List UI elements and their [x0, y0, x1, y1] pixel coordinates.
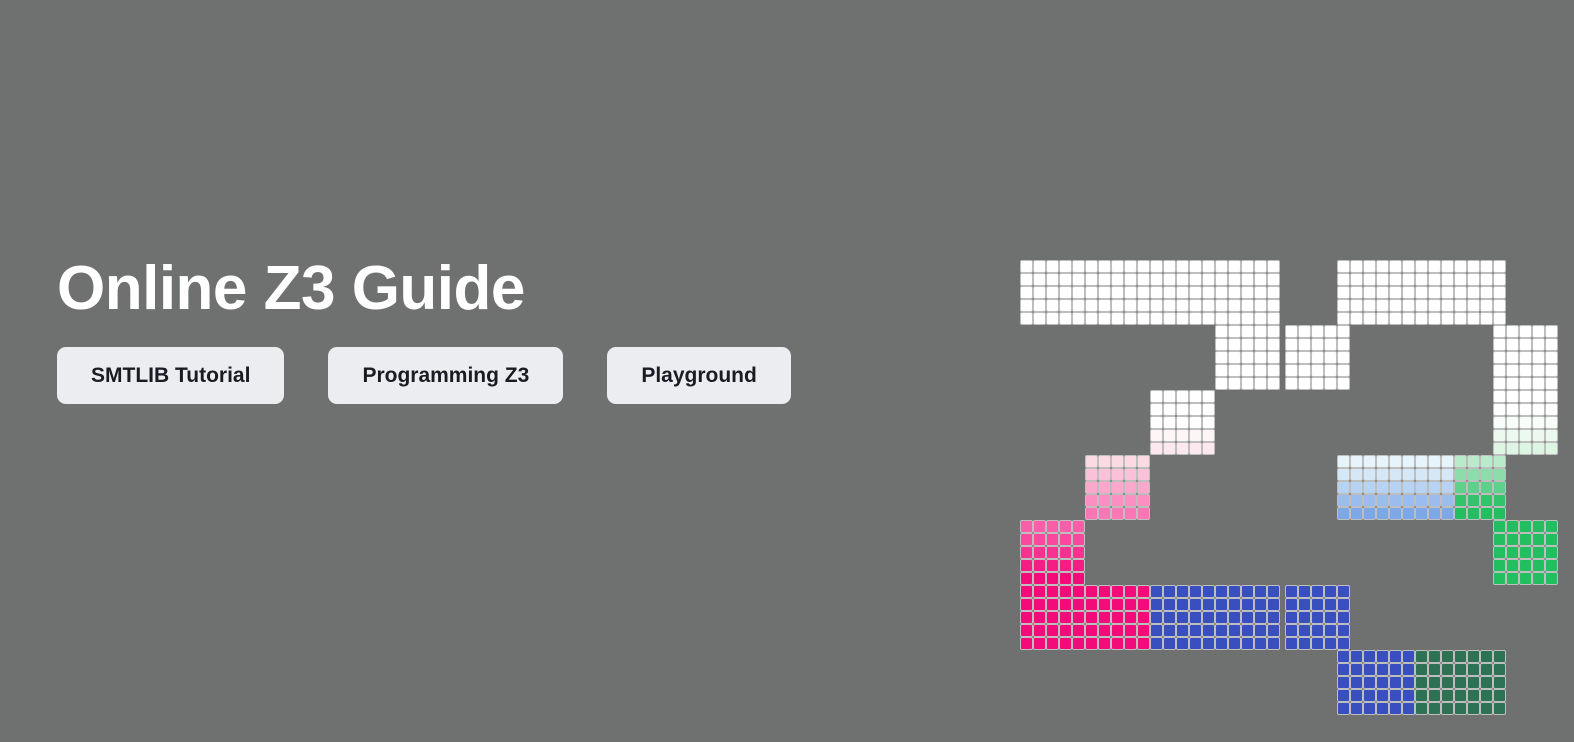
logo-pixel	[1086, 599, 1097, 610]
logo-pixel	[1481, 287, 1492, 298]
logo-pixel	[1533, 430, 1544, 441]
logo-pixel	[1203, 443, 1214, 454]
logo-pixel	[1177, 638, 1188, 649]
logo-pixel	[1546, 443, 1557, 454]
logo-pixel	[1190, 300, 1201, 311]
logo-pixel	[1494, 378, 1505, 389]
logo-pixel	[1507, 573, 1518, 584]
logo-pixel	[1520, 352, 1531, 363]
logo-pixel	[1468, 677, 1479, 688]
logo-pixel	[1312, 625, 1323, 636]
logo-pixel	[1494, 521, 1505, 532]
logo-pixel	[1312, 339, 1323, 350]
logo-pixel	[1494, 261, 1505, 272]
logo-pixel	[1242, 274, 1253, 285]
logo-pixel	[1229, 326, 1240, 337]
logo-pixel	[1416, 313, 1427, 324]
logo-pixel	[1299, 365, 1310, 376]
logo-pixel	[1086, 287, 1097, 298]
logo-pixel	[1403, 690, 1414, 701]
logo-pixel	[1268, 586, 1279, 597]
logo-pixel	[1468, 508, 1479, 519]
logo-pixel	[1255, 313, 1266, 324]
logo-pixel	[1533, 404, 1544, 415]
logo-pixel	[1112, 612, 1123, 623]
logo-pixel	[1455, 651, 1466, 662]
logo-pixel	[1099, 612, 1110, 623]
logo-pixel	[1268, 352, 1279, 363]
logo-pixel	[1377, 469, 1388, 480]
logo-pixel	[1138, 612, 1149, 623]
logo-pixel	[1403, 677, 1414, 688]
logo-pixel	[1203, 274, 1214, 285]
logo-pixel	[1468, 313, 1479, 324]
logo-pixel	[1312, 352, 1323, 363]
logo-pixel	[1060, 560, 1071, 571]
logo-pixel	[1468, 456, 1479, 467]
logo-pixel	[1073, 625, 1084, 636]
logo-pixel	[1060, 261, 1071, 272]
logo-pixel	[1099, 469, 1110, 480]
logo-pixel	[1138, 482, 1149, 493]
logo-pixel	[1138, 261, 1149, 272]
logo-pixel	[1364, 508, 1375, 519]
logo-pixel	[1416, 274, 1427, 285]
logo-pixel	[1338, 508, 1349, 519]
logo-pixel	[1229, 313, 1240, 324]
logo-pixel	[1099, 287, 1110, 298]
logo-pixel	[1546, 326, 1557, 337]
logo-pixel	[1299, 339, 1310, 350]
logo-pixel	[1177, 625, 1188, 636]
logo-pixel	[1216, 586, 1227, 597]
logo-pixel	[1455, 287, 1466, 298]
logo-pixel	[1533, 352, 1544, 363]
logo-pixel	[1164, 599, 1175, 610]
logo-pixel	[1455, 690, 1466, 701]
logo-pixel	[1151, 404, 1162, 415]
logo-pixel	[1494, 469, 1505, 480]
logo-pixel	[1429, 651, 1440, 662]
logo-pixel	[1468, 261, 1479, 272]
logo-pixel	[1520, 326, 1531, 337]
logo-pixel	[1338, 482, 1349, 493]
hero-banner: Online Z3 Guide SMTLIB Tutorial Programm…	[0, 0, 1574, 742]
logo-pixel	[1229, 378, 1240, 389]
logo-pixel	[1494, 339, 1505, 350]
logo-pixel	[1312, 638, 1323, 649]
logo-pixel	[1164, 313, 1175, 324]
logo-pixel	[1364, 313, 1375, 324]
logo-pixel	[1151, 612, 1162, 623]
logo-pixel	[1151, 599, 1162, 610]
logo-pixel	[1455, 300, 1466, 311]
logo-pixel	[1099, 261, 1110, 272]
logo-pixel	[1216, 261, 1227, 272]
logo-pixel	[1177, 391, 1188, 402]
logo-pixel	[1520, 560, 1531, 571]
logo-pixel	[1086, 274, 1097, 285]
logo-pixel	[1338, 300, 1349, 311]
logo-pixel	[1099, 586, 1110, 597]
logo-pixel	[1073, 560, 1084, 571]
logo-pixel	[1325, 339, 1336, 350]
logo-pixel	[1390, 651, 1401, 662]
logo-pixel	[1533, 534, 1544, 545]
logo-pixel	[1073, 274, 1084, 285]
logo-pixel	[1047, 599, 1058, 610]
logo-pixel	[1429, 677, 1440, 688]
logo-pixel	[1268, 326, 1279, 337]
logo-pixel	[1377, 495, 1388, 506]
logo-pixel	[1125, 261, 1136, 272]
logo-pixel	[1060, 625, 1071, 636]
logo-pixel	[1390, 469, 1401, 480]
logo-pixel	[1507, 378, 1518, 389]
logo-pixel	[1494, 391, 1505, 402]
logo-pixel	[1138, 599, 1149, 610]
logo-pixel	[1533, 339, 1544, 350]
programming-z3-button[interactable]: Programming Z3	[328, 347, 563, 404]
logo-pixel	[1442, 261, 1453, 272]
logo-pixel	[1377, 690, 1388, 701]
logo-pixel	[1203, 300, 1214, 311]
logo-pixel	[1507, 404, 1518, 415]
logo-pixel	[1164, 261, 1175, 272]
logo-pixel	[1073, 599, 1084, 610]
logo-pixel	[1533, 521, 1544, 532]
logo-pixel	[1164, 430, 1175, 441]
logo-pixel	[1338, 287, 1349, 298]
logo-pixel	[1377, 508, 1388, 519]
logo-pixel	[1351, 469, 1362, 480]
logo-pixel	[1533, 417, 1544, 428]
logo-pixel	[1364, 664, 1375, 675]
logo-pixel	[1177, 274, 1188, 285]
logo-pixel	[1034, 560, 1045, 571]
logo-pixel	[1021, 274, 1032, 285]
logo-pixel	[1138, 300, 1149, 311]
logo-pixel	[1390, 456, 1401, 467]
logo-pixel	[1507, 365, 1518, 376]
logo-pixel	[1390, 287, 1401, 298]
logo-pixel	[1377, 287, 1388, 298]
logo-pixel	[1494, 456, 1505, 467]
logo-pixel	[1351, 495, 1362, 506]
logo-pixel	[1099, 599, 1110, 610]
logo-pixel	[1125, 469, 1136, 480]
logo-pixel	[1203, 625, 1214, 636]
logo-pixel	[1507, 339, 1518, 350]
logo-pixel	[1060, 300, 1071, 311]
z3-pixel-logo	[1021, 261, 1521, 586]
logo-pixel	[1481, 664, 1492, 675]
logo-pixel	[1151, 274, 1162, 285]
logo-pixel	[1151, 443, 1162, 454]
logo-pixel	[1299, 638, 1310, 649]
logo-pixel	[1047, 521, 1058, 532]
logo-pixel	[1429, 482, 1440, 493]
logo-pixel	[1507, 443, 1518, 454]
logo-pixel	[1125, 495, 1136, 506]
logo-pixel	[1034, 612, 1045, 623]
logo-pixel	[1377, 313, 1388, 324]
logo-pixel	[1047, 274, 1058, 285]
logo-pixel	[1351, 482, 1362, 493]
logo-pixel	[1455, 482, 1466, 493]
logo-pixel	[1177, 417, 1188, 428]
logo-pixel	[1390, 313, 1401, 324]
logo-pixel	[1177, 300, 1188, 311]
logo-pixel	[1286, 352, 1297, 363]
logo-pixel	[1351, 664, 1362, 675]
logo-pixel	[1151, 313, 1162, 324]
logo-pixel	[1177, 612, 1188, 623]
logo-pixel	[1021, 638, 1032, 649]
logo-pixel	[1429, 313, 1440, 324]
logo-pixel	[1125, 638, 1136, 649]
logo-pixel	[1377, 456, 1388, 467]
logo-pixel	[1494, 534, 1505, 545]
logo-pixel	[1455, 508, 1466, 519]
logo-pixel	[1390, 495, 1401, 506]
logo-pixel	[1073, 300, 1084, 311]
logo-pixel	[1138, 313, 1149, 324]
logo-pixel	[1151, 586, 1162, 597]
logo-pixel	[1216, 313, 1227, 324]
logo-pixel	[1468, 495, 1479, 506]
logo-pixel	[1286, 365, 1297, 376]
smtlib-tutorial-button[interactable]: SMTLIB Tutorial	[57, 347, 284, 404]
logo-pixel	[1255, 352, 1266, 363]
logo-pixel	[1455, 703, 1466, 714]
logo-pixel	[1494, 482, 1505, 493]
logo-pixel	[1073, 521, 1084, 532]
logo-pixel	[1338, 326, 1349, 337]
logo-pixel	[1047, 287, 1058, 298]
logo-pixel	[1403, 703, 1414, 714]
logo-pixel	[1377, 261, 1388, 272]
logo-pixel	[1364, 495, 1375, 506]
logo-pixel	[1442, 313, 1453, 324]
logo-pixel	[1177, 404, 1188, 415]
logo-pixel	[1021, 625, 1032, 636]
logo-pixel	[1021, 534, 1032, 545]
logo-pixel	[1164, 612, 1175, 623]
logo-pixel	[1325, 378, 1336, 389]
logo-pixel	[1060, 521, 1071, 532]
logo-pixel	[1494, 508, 1505, 519]
logo-pixel	[1468, 664, 1479, 675]
logo-pixel	[1494, 274, 1505, 285]
logo-pixel	[1190, 612, 1201, 623]
logo-pixel	[1481, 300, 1492, 311]
logo-pixel	[1520, 534, 1531, 545]
logo-pixel	[1520, 417, 1531, 428]
logo-pixel	[1073, 261, 1084, 272]
logo-pixel	[1546, 365, 1557, 376]
logo-pixel	[1468, 690, 1479, 701]
logo-pixel	[1086, 586, 1097, 597]
logo-pixel	[1299, 378, 1310, 389]
logo-pixel	[1112, 599, 1123, 610]
logo-pixel	[1255, 287, 1266, 298]
playground-button[interactable]: Playground	[607, 347, 791, 404]
logo-pixel	[1442, 274, 1453, 285]
logo-pixel	[1268, 625, 1279, 636]
page-title: Online Z3 Guide	[57, 258, 957, 320]
logo-pixel	[1203, 287, 1214, 298]
logo-pixel	[1364, 300, 1375, 311]
logo-pixel	[1494, 300, 1505, 311]
logo-pixel	[1481, 482, 1492, 493]
logo-pixel	[1216, 300, 1227, 311]
logo-pixel	[1242, 612, 1253, 623]
logo-pixel	[1047, 560, 1058, 571]
logo-pixel	[1164, 391, 1175, 402]
logo-pixel	[1047, 261, 1058, 272]
logo-pixel	[1125, 482, 1136, 493]
logo-pixel	[1190, 430, 1201, 441]
logo-pixel	[1455, 274, 1466, 285]
logo-pixel	[1468, 287, 1479, 298]
logo-pixel	[1099, 495, 1110, 506]
logo-pixel	[1242, 313, 1253, 324]
logo-pixel	[1086, 482, 1097, 493]
logo-pixel	[1390, 482, 1401, 493]
logo-pixel	[1112, 586, 1123, 597]
logo-pixel	[1060, 287, 1071, 298]
logo-pixel	[1073, 534, 1084, 545]
logo-pixel	[1151, 300, 1162, 311]
logo-pixel	[1429, 495, 1440, 506]
logo-pixel	[1203, 417, 1214, 428]
logo-pixel	[1268, 599, 1279, 610]
logo-pixel	[1403, 469, 1414, 480]
logo-pixel	[1216, 638, 1227, 649]
logo-pixel	[1021, 599, 1032, 610]
logo-pixel	[1099, 508, 1110, 519]
logo-pixel	[1242, 625, 1253, 636]
logo-pixel	[1351, 456, 1362, 467]
logo-pixel	[1203, 612, 1214, 623]
logo-pixel	[1416, 508, 1427, 519]
logo-pixel	[1351, 313, 1362, 324]
logo-pixel	[1338, 586, 1349, 597]
logo-pixel	[1546, 521, 1557, 532]
logo-pixel	[1299, 599, 1310, 610]
logo-pixel	[1151, 417, 1162, 428]
logo-pixel	[1390, 703, 1401, 714]
logo-pixel	[1177, 586, 1188, 597]
logo-pixel	[1546, 430, 1557, 441]
logo-pixel	[1520, 404, 1531, 415]
logo-pixel	[1338, 651, 1349, 662]
logo-pixel	[1351, 703, 1362, 714]
logo-pixel	[1338, 599, 1349, 610]
logo-pixel	[1286, 638, 1297, 649]
logo-pixel	[1268, 261, 1279, 272]
logo-pixel	[1164, 300, 1175, 311]
logo-pixel	[1468, 274, 1479, 285]
logo-pixel	[1494, 443, 1505, 454]
logo-pixel	[1364, 261, 1375, 272]
logo-pixel	[1520, 430, 1531, 441]
logo-pixel	[1086, 612, 1097, 623]
logo-pixel	[1125, 586, 1136, 597]
logo-pixel	[1203, 638, 1214, 649]
logo-pixel	[1073, 612, 1084, 623]
logo-pixel	[1060, 638, 1071, 649]
logo-pixel	[1494, 573, 1505, 584]
logo-pixel	[1481, 469, 1492, 480]
logo-pixel	[1507, 417, 1518, 428]
logo-pixel	[1151, 430, 1162, 441]
logo-pixel	[1164, 274, 1175, 285]
logo-pixel	[1216, 599, 1227, 610]
logo-pixel	[1416, 495, 1427, 506]
logo-pixel	[1520, 547, 1531, 558]
logo-pixel	[1229, 625, 1240, 636]
logo-pixel	[1507, 326, 1518, 337]
logo-pixel	[1364, 677, 1375, 688]
logo-pixel	[1468, 469, 1479, 480]
logo-pixel	[1034, 521, 1045, 532]
logo-pixel	[1325, 586, 1336, 597]
logo-pixel	[1034, 586, 1045, 597]
logo-pixel	[1060, 547, 1071, 558]
logo-pixel	[1255, 586, 1266, 597]
logo-pixel	[1338, 495, 1349, 506]
logo-pixel	[1299, 326, 1310, 337]
logo-pixel	[1086, 508, 1097, 519]
logo-pixel	[1429, 703, 1440, 714]
logo-pixel	[1325, 326, 1336, 337]
logo-pixel	[1546, 547, 1557, 558]
logo-pixel	[1546, 573, 1557, 584]
logo-pixel	[1442, 664, 1453, 675]
logo-pixel	[1073, 573, 1084, 584]
logo-pixel	[1164, 443, 1175, 454]
logo-pixel	[1338, 703, 1349, 714]
logo-pixel	[1177, 313, 1188, 324]
logo-pixel	[1190, 313, 1201, 324]
logo-pixel	[1299, 352, 1310, 363]
logo-pixel	[1060, 612, 1071, 623]
logo-pixel	[1073, 287, 1084, 298]
logo-pixel	[1442, 482, 1453, 493]
logo-pixel	[1060, 313, 1071, 324]
logo-pixel	[1242, 365, 1253, 376]
logo-pixel	[1242, 287, 1253, 298]
logo-pixel	[1507, 352, 1518, 363]
logo-pixel	[1351, 274, 1362, 285]
logo-pixel	[1351, 300, 1362, 311]
logo-pixel	[1494, 547, 1505, 558]
logo-pixel	[1429, 456, 1440, 467]
logo-pixel	[1099, 456, 1110, 467]
logo-pixel	[1047, 534, 1058, 545]
logo-pixel	[1047, 547, 1058, 558]
logo-pixel	[1481, 508, 1492, 519]
logo-pixel	[1203, 313, 1214, 324]
logo-pixel	[1429, 261, 1440, 272]
logo-pixel	[1286, 612, 1297, 623]
logo-pixel	[1034, 625, 1045, 636]
logo-pixel	[1034, 534, 1045, 545]
logo-pixel	[1151, 287, 1162, 298]
logo-pixel	[1268, 638, 1279, 649]
